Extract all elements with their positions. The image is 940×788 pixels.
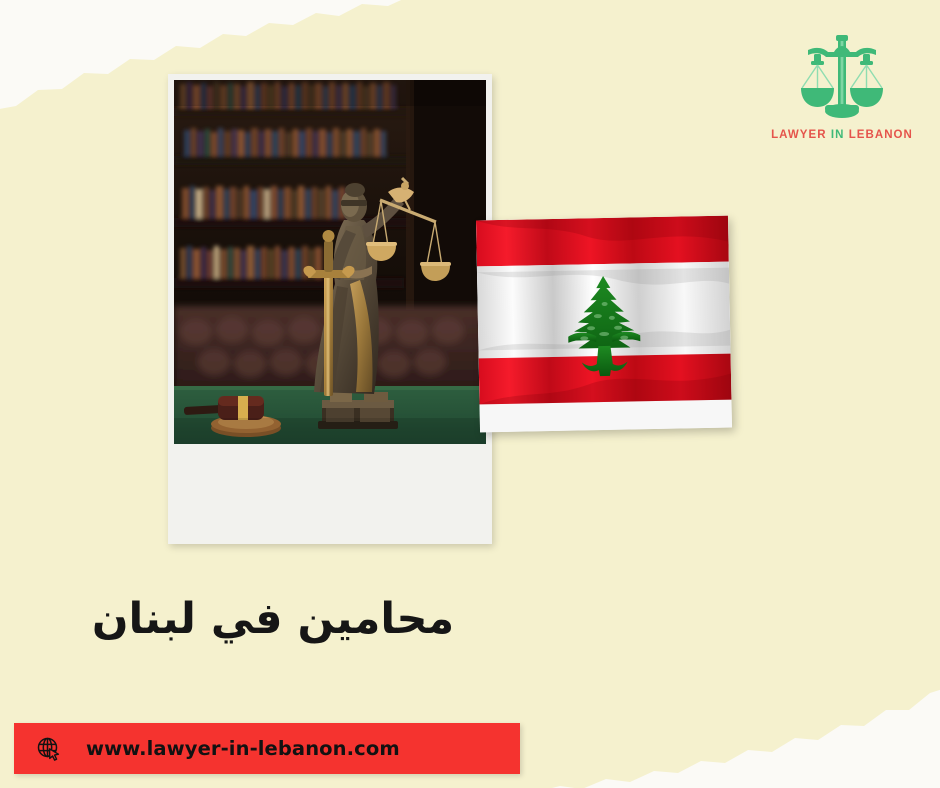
photo-illustration [174,80,486,444]
globe-cursor-icon [36,736,62,762]
scales-of-justice-icon [794,30,890,122]
page-title: محامين في لبنان [88,588,458,650]
brand-name-part-3: LEBANON [849,129,913,141]
brand-name: LAWYER IN LEBANON [771,129,913,141]
brand-name-part-1: LAWYER [771,129,827,141]
photo-caption-area [174,444,486,544]
website-url-bar[interactable]: www.lawyer-in-lebanon.com [14,723,520,774]
law-library-photo [174,80,486,444]
brand-name-part-2: IN [831,129,845,141]
website-url-text: www.lawyer-in-lebanon.com [86,737,400,760]
lebanon-flag [476,216,732,433]
torn-paper-bottom-right-icon [530,592,940,788]
lebanon-flag-illustration [476,216,732,433]
photo-frame [168,74,492,544]
brand-logo[interactable]: LAWYER IN LEBANON [762,30,922,158]
